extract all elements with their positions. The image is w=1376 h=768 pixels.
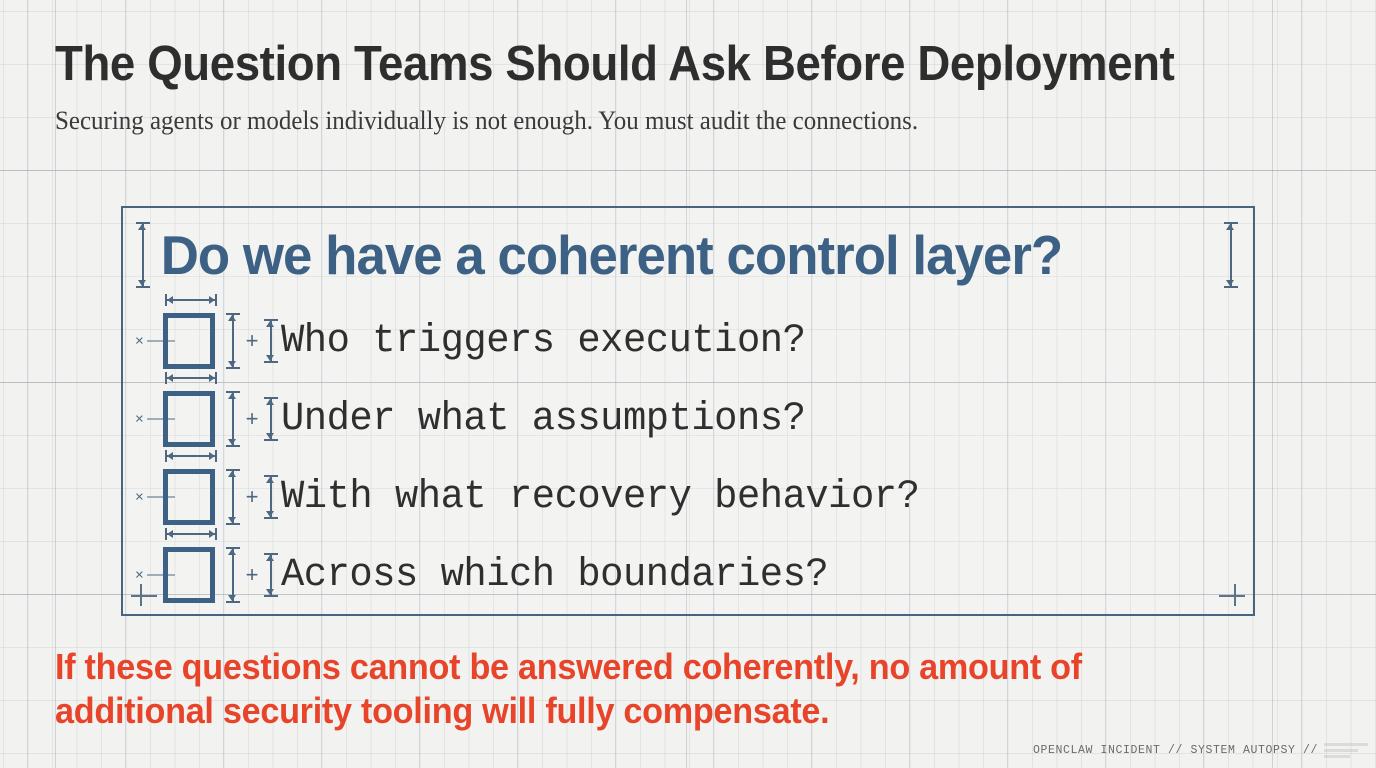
dimension-arrow-box-height-icon <box>225 391 241 447</box>
dimension-arrow-box-height-icon <box>225 469 241 525</box>
dimension-arrow-horizontal-icon <box>165 372 217 384</box>
callout-warning: If these questions cannot be answered co… <box>55 645 1243 733</box>
plus-symbol-icon: + <box>241 486 263 508</box>
checklist-item[interactable]: × + Across which boundaries? <box>123 536 1253 614</box>
dimension-arrow-box-height-icon <box>225 313 241 369</box>
checklist-item-label: Who triggers execution? <box>281 319 805 364</box>
dimension-arrow-box-height-icon <box>225 547 241 603</box>
checkbox-wrap <box>163 391 219 447</box>
dimension-arrow-text-height-icon <box>263 397 279 441</box>
checklist-item-label: Across which boundaries? <box>281 553 828 598</box>
checkbox-wrap <box>163 313 219 369</box>
checkbox[interactable] <box>163 391 215 447</box>
plus-symbol-icon: + <box>241 564 263 586</box>
blueprint-panel: Do we have a coherent control layer? × <box>121 206 1255 616</box>
dimension-arrow-vertical-right-icon <box>1223 222 1239 288</box>
panel-headline-row: Do we have a coherent control layer? <box>123 222 1253 288</box>
checklist-item-label: With what recovery behavior? <box>281 475 919 520</box>
dimension-arrow-horizontal-icon <box>165 294 217 306</box>
footer: OPENCLAW INCIDENT // SYSTEM AUTOPSY // <box>1033 743 1368 758</box>
dimension-arrow-vertical-left-icon <box>135 222 151 288</box>
dimension-arrow-horizontal-icon <box>165 450 217 462</box>
checklist-item[interactable]: × + Who triggers execution? <box>123 302 1253 380</box>
checkbox-wrap <box>163 547 219 603</box>
checkbox[interactable] <box>163 469 215 525</box>
dimension-arrow-text-height-icon <box>263 553 279 597</box>
checklist: × + Who triggers execution? <box>123 302 1253 614</box>
plus-symbol-icon: + <box>241 408 263 430</box>
checkbox[interactable] <box>163 547 215 603</box>
dimension-arrow-text-height-icon <box>263 475 279 519</box>
callout-line-2: additional security tooling will fully c… <box>55 689 1243 733</box>
checklist-item-label: Under what assumptions? <box>281 397 805 442</box>
checklist-item[interactable]: × + With what recovery behavior? <box>123 458 1253 536</box>
grid-major-line-vertical <box>1272 0 1273 768</box>
page-title: The Question Teams Should Ask Before Dep… <box>55 36 1180 92</box>
callout-line-1: If these questions cannot be answered co… <box>55 645 1243 689</box>
checkbox[interactable] <box>163 313 215 369</box>
header: The Question Teams Should Ask Before Dep… <box>55 36 1265 136</box>
footer-text: OPENCLAW INCIDENT // SYSTEM AUTOPSY // <box>1033 744 1318 757</box>
panel-headline: Do we have a coherent control layer? <box>155 223 1180 287</box>
dimension-arrow-horizontal-icon <box>165 528 217 540</box>
page-subtitle: Securing agents or models individually i… <box>55 106 1217 136</box>
dimension-arrow-text-height-icon <box>263 319 279 363</box>
grid-major-line-horizontal <box>0 170 1376 171</box>
brand-logo-icon <box>1324 743 1368 758</box>
plus-symbol-icon: + <box>241 330 263 352</box>
checklist-item[interactable]: × + Under what assumptions? <box>123 380 1253 458</box>
checkbox-wrap <box>163 469 219 525</box>
